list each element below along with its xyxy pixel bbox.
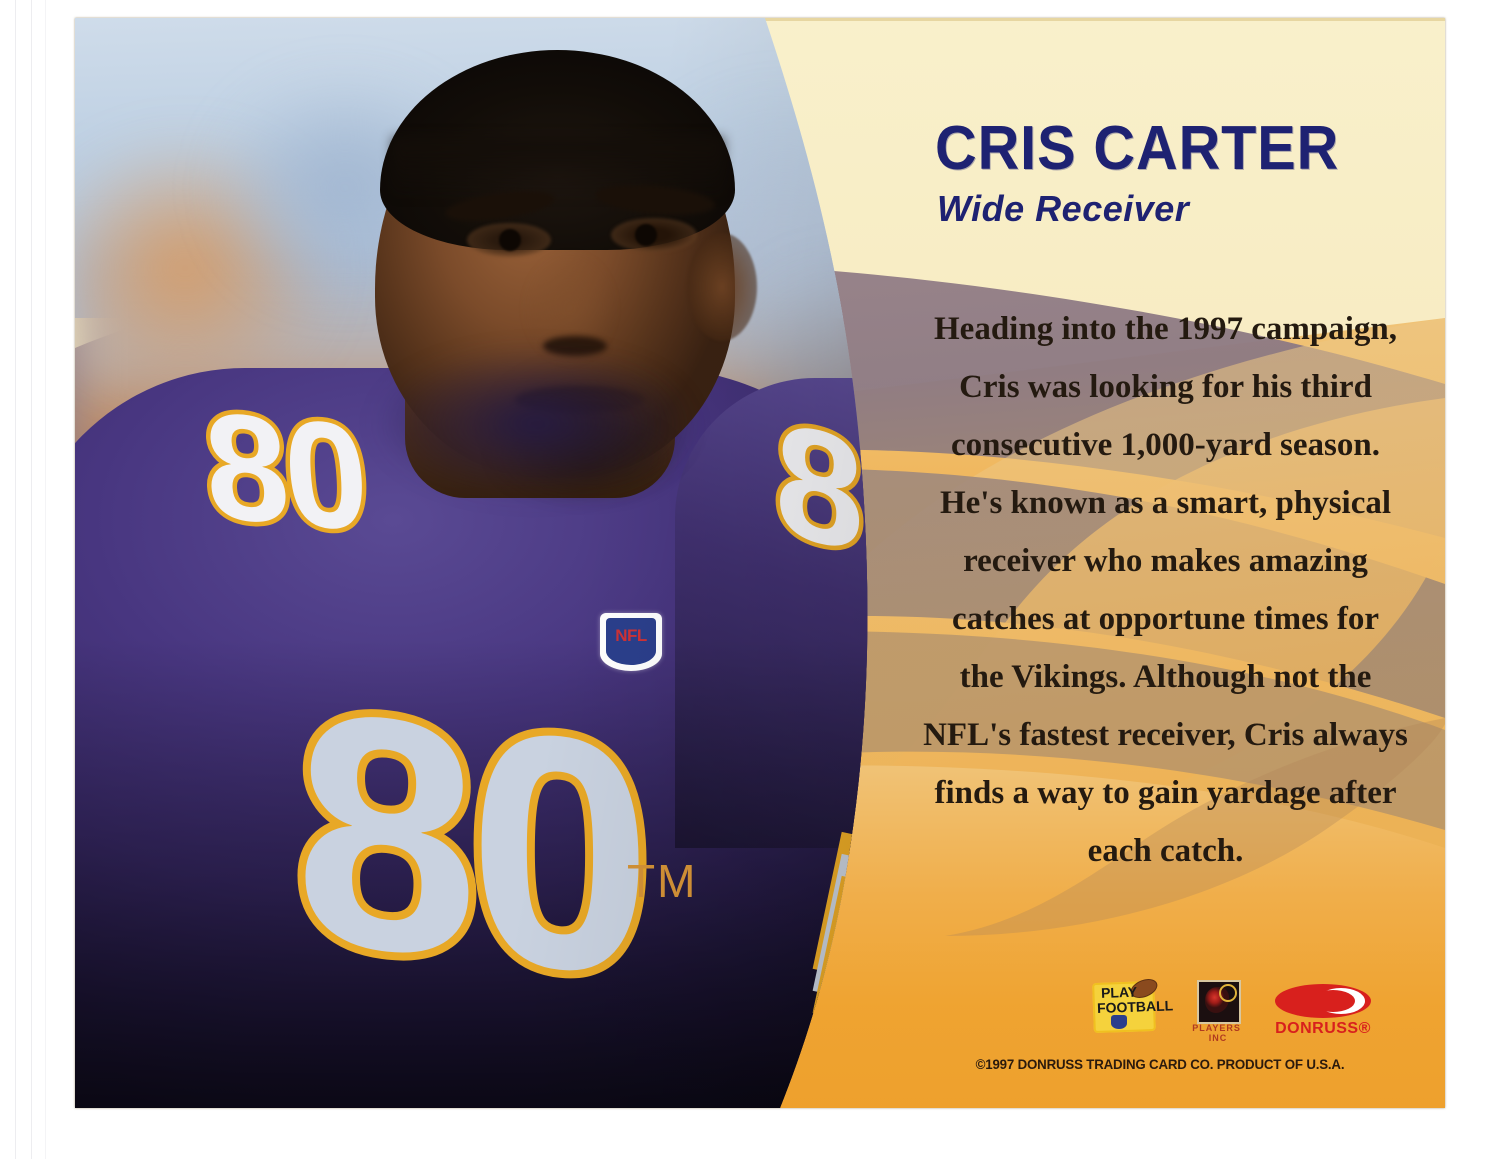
player-name: CRIS CARTER: [935, 118, 1381, 180]
player-photograph: 80 80 80 NFL: [75, 18, 875, 1108]
donruss-label: DONRUSS®: [1267, 1020, 1379, 1038]
bio-line: catches at opportune times for: [893, 590, 1438, 648]
play-football-line2: FOOTBALL: [1095, 998, 1158, 1016]
scan-artifact-line: [15, 0, 16, 1159]
bio-line: He's known as a smart, physical: [893, 474, 1438, 532]
logo-row: PLAY FOOTBALL PLAYERS INC DONRUSS®: [875, 978, 1445, 1048]
bio-line: finds a way to gain yardage after: [893, 764, 1438, 822]
donruss-swoosh-inner: [1311, 990, 1355, 1012]
bio-line: the Vikings. Although not the: [893, 648, 1438, 706]
trademark-mark: TM: [627, 858, 697, 904]
bio-line: receiver who makes amazing: [893, 532, 1438, 590]
scan-artifact-line: [31, 0, 32, 1159]
bio-line: Cris was looking for his third: [893, 358, 1438, 416]
photo-vignette: [75, 18, 875, 1108]
player-position: Wide Receiver: [937, 191, 1417, 227]
players-inc-ring: [1219, 984, 1237, 1002]
bio-line: consecutive 1,000-yard season.: [893, 416, 1438, 474]
copyright-notice: ©1997 DONRUSS TRADING CARD CO. PRODUCT O…: [889, 1056, 1431, 1072]
scanner-background: 80 80 80 NFL CRIS CARTER Wide Receiver H…: [0, 0, 1500, 1159]
players-inc-label: PLAYERS INC: [1185, 1023, 1251, 1043]
card-text-panel: CRIS CARTER Wide Receiver Heading into t…: [875, 18, 1445, 1108]
bio-line: Heading into the 1997 campaign,: [893, 300, 1438, 358]
bio-line: each catch.: [893, 822, 1438, 880]
scan-artifact-line: [45, 0, 46, 1159]
player-bio-text: Heading into the 1997 campaign, Cris was…: [893, 300, 1438, 880]
trading-card-back: 80 80 80 NFL CRIS CARTER Wide Receiver H…: [75, 18, 1445, 1108]
nfl-shield-small-icon: [1111, 1015, 1127, 1029]
bio-line: NFL's fastest receiver, Cris always: [893, 706, 1438, 764]
